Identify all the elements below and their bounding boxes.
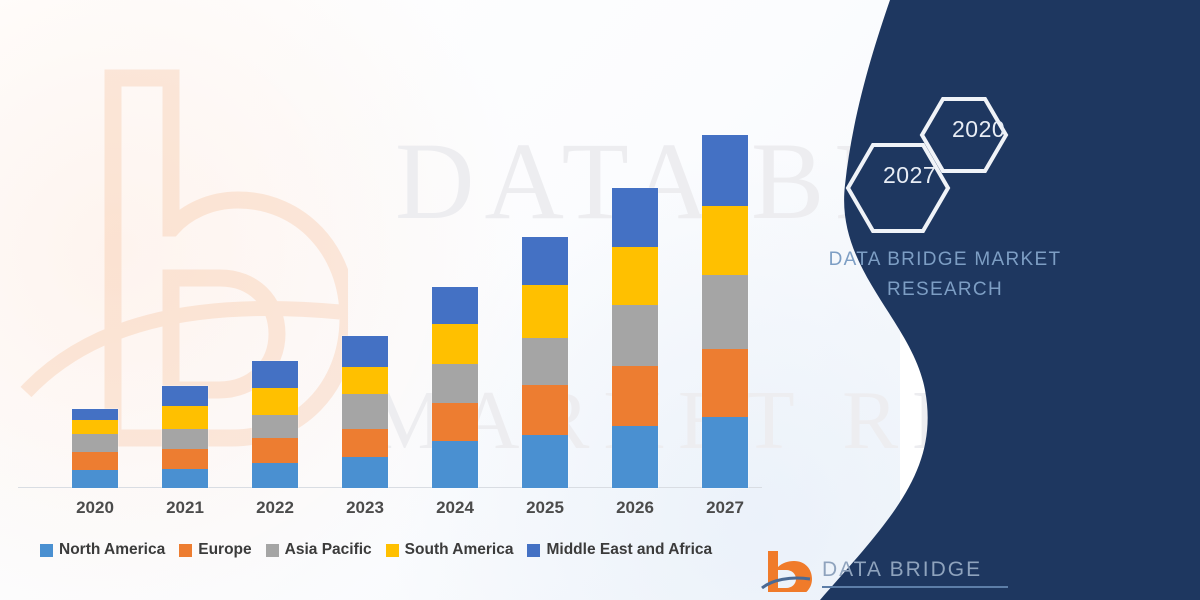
stacked-bar-chart: 20202021202220232024202520262027 North A… [0, 0, 800, 600]
segment-2021-europe[interactable] [162, 449, 208, 469]
legend-label: Middle East and Africa [546, 541, 712, 559]
legend-swatch-icon [179, 544, 192, 557]
x-label-2023: 2023 [320, 498, 410, 518]
segment-2020-europe[interactable] [72, 452, 118, 470]
segment-2022-north-america[interactable] [252, 463, 298, 488]
brand-title-line-2: RESEARCH [780, 275, 1110, 305]
legend-label: Asia Pacific [285, 541, 372, 559]
segment-2021-south-america[interactable] [162, 406, 208, 429]
logo-underline [822, 586, 1008, 588]
segment-2026-south-america[interactable] [612, 247, 658, 305]
bridge-b-logo-icon [760, 548, 812, 592]
segment-2022-south-america[interactable] [252, 388, 298, 415]
segment-2024-north-america[interactable] [432, 441, 478, 488]
segment-2025-asia-pacific[interactable] [522, 338, 568, 385]
bar-2024[interactable] [432, 287, 478, 488]
segment-2024-south-america[interactable] [432, 324, 478, 364]
bar-2022[interactable] [252, 361, 298, 488]
brand-title: DATA BRIDGE MARKET RESEARCH [780, 245, 1110, 305]
segment-2026-middle-east-and-africa[interactable] [612, 188, 658, 247]
segment-2023-north-america[interactable] [342, 457, 388, 488]
x-label-2024: 2024 [410, 498, 500, 518]
legend-swatch-icon [386, 544, 399, 557]
x-label-2022: 2022 [230, 498, 320, 518]
hexagon-pair: 2020 2027 [835, 90, 1055, 240]
x-label-2021: 2021 [140, 498, 230, 518]
legend-item-north-america[interactable]: North America [40, 541, 165, 559]
x-label-2025: 2025 [500, 498, 590, 518]
data-bridge-logo: DATA BRIDGE [760, 548, 1010, 594]
chart-infographic: DATA BRIDGE MARKET RESEARCH 202020212022… [0, 0, 1200, 600]
bar-2021[interactable] [162, 386, 208, 488]
bar-2026[interactable] [612, 188, 658, 488]
plot-area [40, 100, 770, 488]
segment-2024-europe[interactable] [432, 403, 478, 441]
legend-item-asia-pacific[interactable]: Asia Pacific [266, 541, 372, 559]
segment-2021-asia-pacific[interactable] [162, 429, 208, 449]
segment-2020-north-america[interactable] [72, 470, 118, 488]
segment-2020-south-america[interactable] [72, 420, 118, 434]
legend-label: North America [59, 541, 165, 559]
legend-label: Europe [198, 541, 251, 559]
chart-legend: North AmericaEuropeAsia PacificSouth Ame… [40, 541, 712, 559]
segment-2022-middle-east-and-africa[interactable] [252, 361, 298, 388]
segment-2026-north-america[interactable] [612, 426, 658, 488]
segment-2023-south-america[interactable] [342, 367, 388, 394]
segment-2024-asia-pacific[interactable] [432, 364, 478, 403]
segment-2025-europe[interactable] [522, 385, 568, 435]
segment-2024-middle-east-and-africa[interactable] [432, 287, 478, 324]
hex-2020-label: 2020 [952, 116, 1005, 143]
segment-2021-north-america[interactable] [162, 469, 208, 488]
segment-2026-europe[interactable] [612, 366, 658, 426]
x-label-2020: 2020 [50, 498, 140, 518]
legend-swatch-icon [40, 544, 53, 557]
legend-label: South America [405, 541, 514, 559]
legend-item-europe[interactable]: Europe [179, 541, 251, 559]
brand-title-line-1: DATA BRIDGE MARKET [780, 245, 1110, 275]
segment-2020-middle-east-and-africa[interactable] [72, 409, 118, 420]
segment-2022-asia-pacific[interactable] [252, 415, 298, 438]
segment-2023-middle-east-and-africa[interactable] [342, 336, 388, 367]
bar-2020[interactable] [72, 409, 118, 488]
x-label-2026: 2026 [590, 498, 680, 518]
hex-2027-label: 2027 [883, 162, 936, 189]
segment-2020-asia-pacific[interactable] [72, 434, 118, 452]
segment-2021-middle-east-and-africa[interactable] [162, 386, 208, 406]
bar-2025[interactable] [522, 237, 568, 488]
segment-2022-europe[interactable] [252, 438, 298, 463]
segment-2025-south-america[interactable] [522, 285, 568, 338]
segment-2025-middle-east-and-africa[interactable] [522, 237, 568, 285]
segment-2023-europe[interactable] [342, 429, 388, 457]
legend-swatch-icon [266, 544, 279, 557]
segment-2026-asia-pacific[interactable] [612, 305, 658, 366]
x-axis-labels: 20202021202220232024202520262027 [0, 498, 800, 528]
segment-2025-north-america[interactable] [522, 435, 568, 488]
logo-wordmark: DATA BRIDGE [822, 558, 982, 582]
bar-2023[interactable] [342, 336, 388, 488]
legend-item-south-america[interactable]: South America [386, 541, 514, 559]
legend-item-middle-east-and-africa[interactable]: Middle East and Africa [527, 541, 712, 559]
brand-panel: 2020 2027 DATA BRIDGE MARKET RESEARCH DA… [740, 0, 1200, 600]
legend-swatch-icon [527, 544, 540, 557]
segment-2023-asia-pacific[interactable] [342, 394, 388, 429]
